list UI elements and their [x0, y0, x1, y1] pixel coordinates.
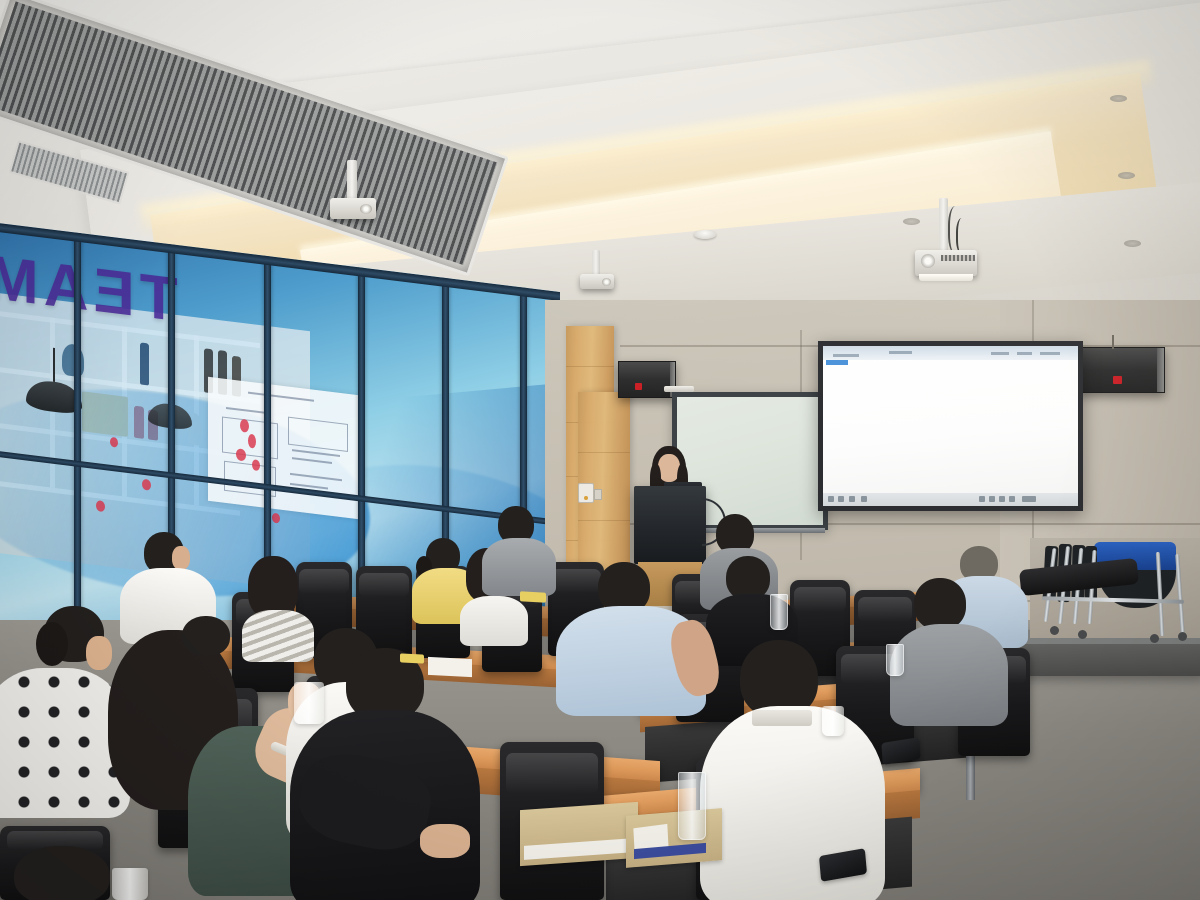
projector-light-spill: [919, 274, 973, 281]
caster-wheel: [1178, 632, 1187, 641]
downlight-icon: [903, 218, 920, 225]
stacked-chairs-trolley: [1038, 540, 1198, 650]
card-reader-icon[interactable]: [578, 483, 594, 503]
water-glass[interactable]: [770, 594, 788, 630]
projector-mount-pole: [939, 198, 948, 254]
polo-collar: [752, 710, 812, 726]
downlight-icon: [1118, 172, 1135, 179]
screen-window-titlebar: [823, 346, 1078, 360]
downlight-icon: [1124, 240, 1141, 247]
red-marker-dot: [272, 513, 280, 524]
speaker-brand-logo: [635, 383, 642, 390]
smoke-detector-icon: [694, 230, 716, 239]
projector-cable: [956, 218, 970, 254]
projector-mount-pole: [592, 250, 600, 276]
water-glass[interactable]: [886, 644, 904, 676]
projector-lens-icon: [921, 254, 935, 268]
projection-screen-image: [823, 346, 1078, 506]
red-marker-dot: [142, 479, 151, 491]
screen-selection-highlight: [826, 360, 849, 365]
podium: [634, 486, 706, 564]
red-marker-dot: [96, 500, 105, 512]
red-marker-dot: [236, 448, 246, 461]
paper-cup[interactable]: [294, 682, 324, 724]
downlight-icon: [1110, 95, 1127, 102]
red-marker-dot: [248, 434, 256, 449]
speaker-brand-logo: [1113, 376, 1122, 384]
highlighter-pen[interactable]: [520, 591, 546, 602]
paper-cup[interactable]: [822, 706, 844, 736]
chair-frame: [1175, 554, 1185, 636]
caster-wheel: [1150, 634, 1159, 643]
highlighter-pen[interactable]: [400, 653, 424, 663]
light-switch-icon[interactable]: [594, 489, 602, 500]
whiteboard-bracket: [664, 386, 694, 392]
speaker-cable: [1112, 335, 1114, 349]
projector-vent: [941, 255, 975, 261]
paper-cup[interactable]: [112, 868, 148, 900]
projector-lens-icon: [360, 204, 372, 214]
red-marker-dot: [252, 459, 260, 471]
handout-paper: [428, 657, 472, 677]
caster-wheel: [1050, 626, 1059, 635]
projector-mount-pole: [347, 160, 357, 202]
red-marker-dot: [110, 437, 118, 448]
screen-taskbar: [823, 493, 1078, 506]
conference-room-photo: TEAM: [0, 0, 1200, 900]
projector-lens-icon: [602, 278, 611, 286]
water-glass[interactable]: [678, 772, 706, 840]
window-mullion: [74, 232, 81, 653]
red-marker-dot: [240, 419, 249, 433]
projection-screen: [818, 341, 1083, 511]
wall-speaker-right: [1078, 347, 1165, 393]
caster-wheel: [1078, 630, 1087, 639]
person-hand: [420, 824, 470, 858]
wall-speaker-left: [618, 361, 676, 398]
